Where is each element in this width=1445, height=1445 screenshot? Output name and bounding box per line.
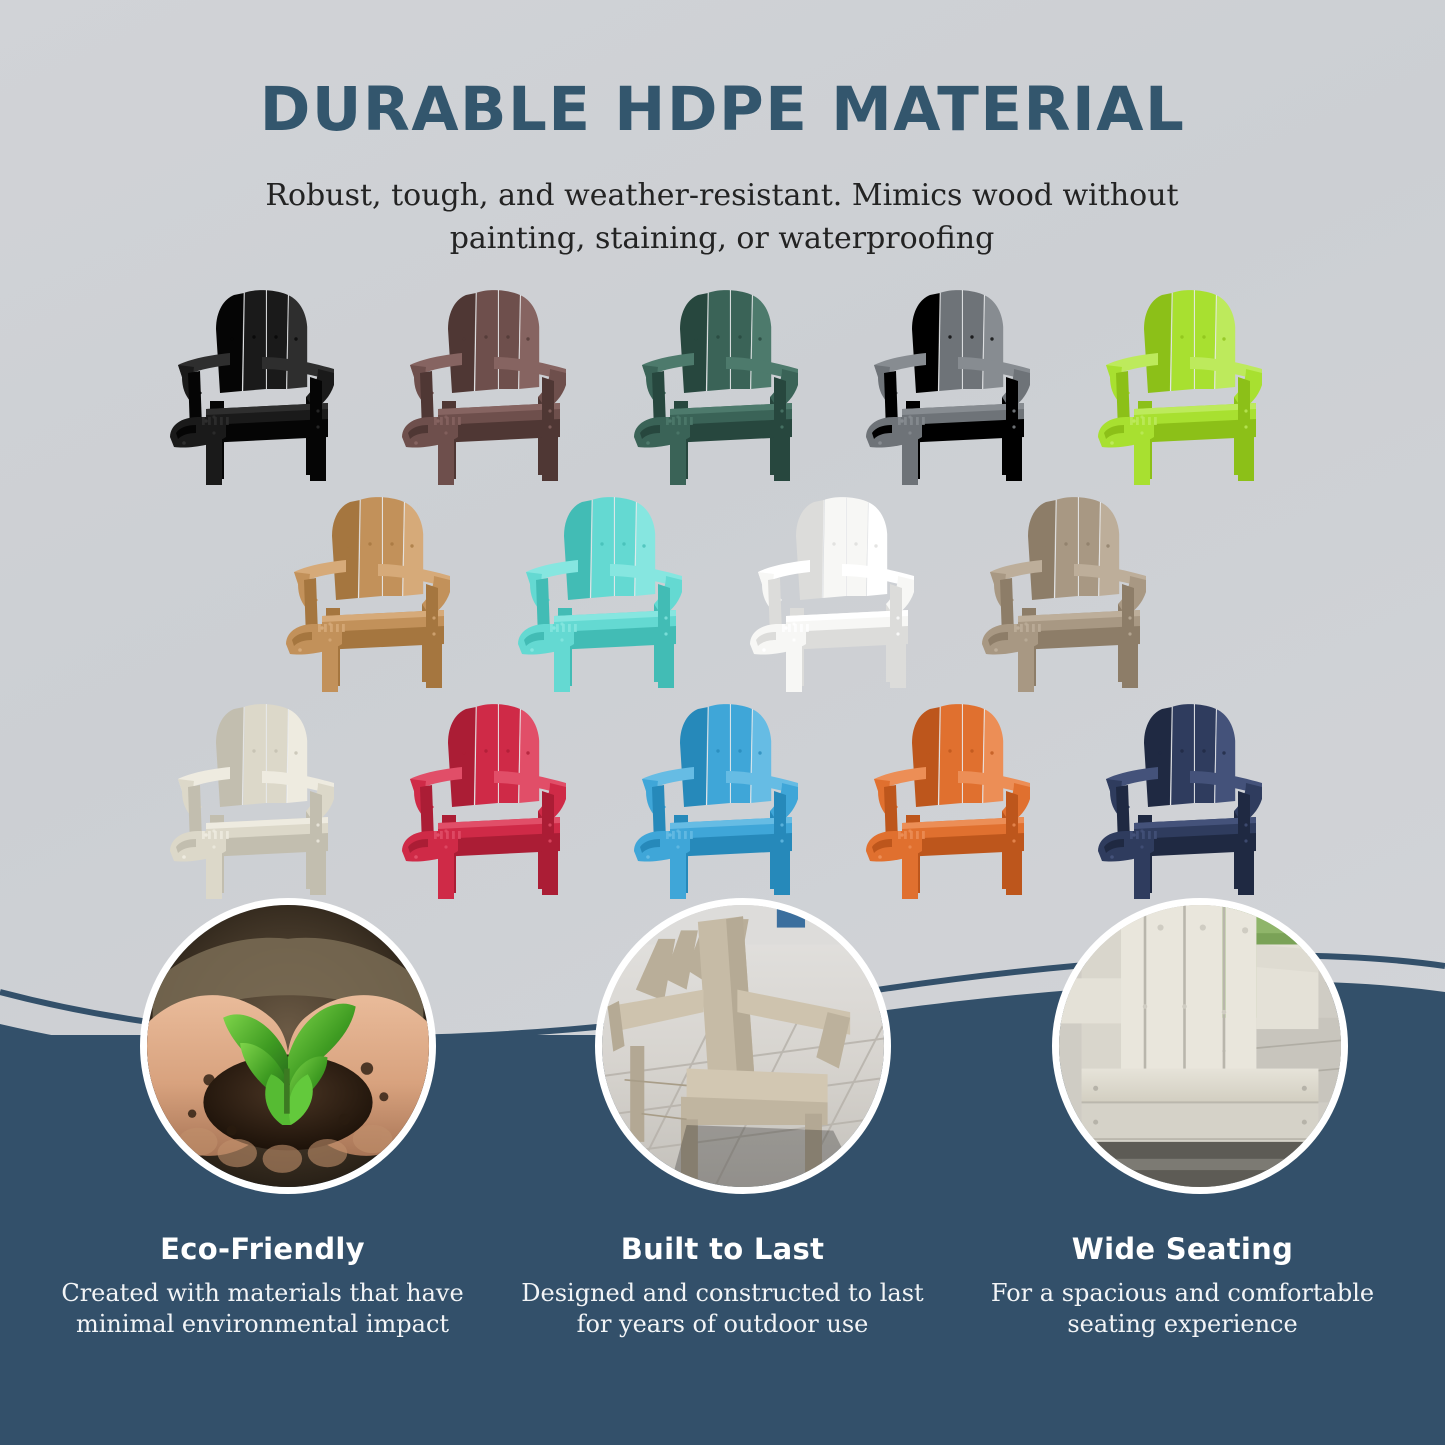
chair-swatch-teak[interactable] — [266, 479, 490, 694]
feature-description: For a spacious and comfortable seating e… — [965, 1278, 1401, 1340]
adirondack-chair-black — [158, 277, 366, 487]
adirondack-chair-blue — [622, 691, 830, 901]
chair-row-3 — [6, 686, 1445, 901]
feature-wide-seating: Wide Seating For a spacious and comforta… — [953, 1232, 1413, 1340]
chair-row-1 — [6, 272, 1445, 487]
adirondack-chair-weathered-wood — [970, 484, 1178, 694]
feature-title: Eco-Friendly — [45, 1232, 481, 1266]
adirondack-chair-white — [738, 484, 946, 694]
features-row: Eco-Friendly Created with materials that… — [0, 1232, 1445, 1340]
feature-title: Wide Seating — [965, 1232, 1401, 1266]
feature-eco-friendly: Eco-Friendly Created with materials that… — [33, 1232, 493, 1340]
chair-swatch-brown[interactable] — [382, 272, 606, 487]
adirondack-chair-lime-green — [1086, 277, 1294, 487]
page-title: DURABLE HDPE MATERIAL — [0, 78, 1445, 142]
chair-swatch-white[interactable] — [730, 479, 954, 694]
chair-seat-closeup-photo — [1052, 898, 1348, 1194]
adirondack-chair-navy — [1086, 691, 1294, 901]
adirondack-chair-teak — [274, 484, 482, 694]
feature-title: Built to Last — [505, 1232, 941, 1266]
adirondack-chair-brown — [390, 277, 598, 487]
chair-swatch-red[interactable] — [382, 686, 606, 901]
chair-swatch-gray[interactable] — [846, 272, 1070, 487]
feature-description: Created with materials that have minimal… — [45, 1278, 481, 1340]
infographic-page: DURABLE HDPE MATERIAL Robust, tough, and… — [0, 0, 1445, 1445]
adirondack-chair-red — [390, 691, 598, 901]
chair-swatch-dark-green[interactable] — [614, 272, 838, 487]
feature-description: Designed and constructed to last for yea… — [505, 1278, 941, 1340]
chair-swatch-navy[interactable] — [1078, 686, 1302, 901]
chair-color-grid — [0, 272, 1445, 901]
chair-row-2 — [6, 479, 1445, 694]
chair-swatch-beige[interactable] — [150, 686, 374, 901]
hands-holding-seedling-photo — [140, 898, 436, 1194]
chair-swatch-lime-green[interactable] — [1078, 272, 1302, 487]
chair-swatch-orange[interactable] — [846, 686, 1070, 901]
chair-swatch-black[interactable] — [150, 272, 374, 487]
page-subtitle: Robust, tough, and weather-resistant. Mi… — [222, 175, 1222, 260]
adirondack-chair-beige — [158, 691, 366, 901]
adirondack-chair-gray — [854, 277, 1062, 487]
adirondack-chair-patio-photo — [595, 898, 891, 1194]
chair-swatch-weathered-wood[interactable] — [962, 479, 1186, 694]
adirondack-chair-dark-green — [622, 277, 830, 487]
feature-built-to-last: Built to Last Designed and constructed t… — [493, 1232, 953, 1340]
adirondack-chair-orange — [854, 691, 1062, 901]
adirondack-chair-turquoise — [506, 484, 714, 694]
chair-swatch-turquoise[interactable] — [498, 479, 722, 694]
chair-swatch-blue[interactable] — [614, 686, 838, 901]
